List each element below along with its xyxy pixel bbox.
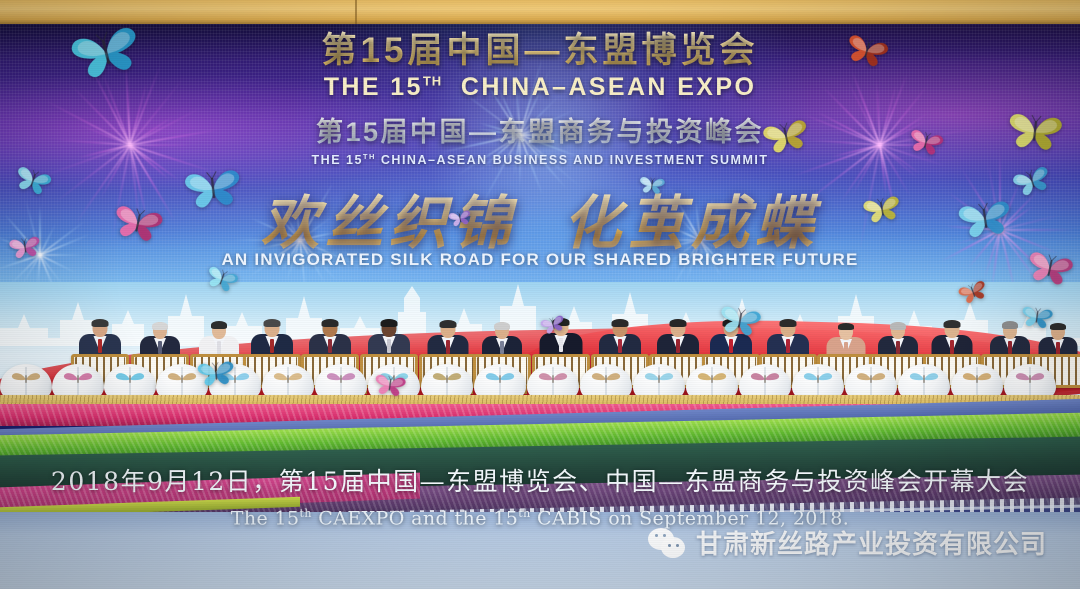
watermark-company-name: 甘肃新丝路产业投资有限公司 — [696, 524, 1047, 561]
cocoon-moth-decal — [591, 371, 621, 390]
cocoon-moth-decal — [538, 371, 568, 390]
event-photo: 第15届中国—东盟博览会 THE 15TH CHINA–ASEAN EXPO 第… — [0, 0, 1080, 589]
summit-title-english: THE 15TH CHINA–ASEAN BUSINESS AND INVEST… — [0, 152, 1080, 167]
cocoon-moth-decal — [803, 371, 833, 390]
dignitary-hair — [1002, 321, 1018, 329]
dignitary-hair — [780, 319, 797, 327]
slogan-english: AN INVIGORATED SILK ROAD FOR OUR SHARED … — [0, 250, 1080, 270]
cocoon-moth-decal — [962, 371, 992, 390]
dignitary-hair — [264, 319, 281, 327]
slogan-calligraphy: 欢丝织锦化茧成蝶 — [0, 176, 1080, 260]
dignitary-hair — [152, 322, 168, 330]
cocoon-moth-decal — [856, 371, 886, 390]
cocoon-moth-decal — [63, 371, 93, 390]
dignitary-hair — [1050, 323, 1066, 330]
expo-title-chinese: 第15届中国—东盟博览会 — [0, 30, 1080, 71]
ceiling-seam — [355, 0, 357, 26]
dignitary-hair — [612, 319, 629, 327]
caption-ordinal-1: th — [300, 507, 312, 520]
summit-title-english-ordinal: TH — [363, 152, 376, 161]
summit-title-english-pre: THE 15 — [312, 153, 363, 167]
expo-title-english-post: CHINA–ASEAN EXPO — [461, 73, 756, 101]
watermark: 甘肃新丝路产业投资有限公司 — [648, 524, 1047, 561]
summit-title-english-post: CHINA–ASEAN BUSINESS AND INVESTMENT SUMM… — [381, 153, 769, 167]
wechat-bubble-small — [661, 537, 685, 558]
dignitary-hair — [838, 323, 854, 330]
cocoon-moth-decal — [909, 371, 939, 390]
cocoon-moth-decal — [750, 371, 780, 390]
dignitary-hair — [494, 322, 510, 330]
dignitary-hair — [944, 320, 961, 328]
cocoon-moth-decal — [379, 371, 409, 390]
cocoon-moth-decal — [432, 371, 462, 390]
dignitary-hair — [553, 318, 570, 326]
cocoon-moth-decal — [167, 371, 197, 390]
cocoon-moth-decal — [326, 371, 356, 390]
cocoon-moth-decal — [697, 371, 727, 390]
cocoon-moth-decal — [644, 371, 674, 390]
slogan-calligraphy-right: 化茧成蝶 — [563, 189, 819, 257]
dignitary-hair — [440, 320, 457, 328]
dignitary-hair — [92, 319, 109, 327]
summit-title-chinese: 第15届中国—东盟商务与投资峰会 — [0, 110, 1080, 149]
dignitary-hair — [211, 321, 227, 329]
cocoon-moth-decal — [273, 371, 303, 390]
wechat-icon — [648, 526, 688, 560]
dignitary-hair — [890, 322, 906, 330]
wechat-dot-3 — [668, 544, 671, 547]
cocoon-moth-decal — [220, 371, 250, 390]
wechat-dot-1 — [655, 534, 658, 537]
caption-english-pre: The 15 — [231, 508, 300, 530]
slogan-calligraphy-left: 欢丝织锦 — [261, 189, 517, 257]
caption-ordinal-2: th — [518, 507, 530, 520]
cocoon-moth-decal — [115, 371, 145, 390]
dignitary-hair — [381, 319, 398, 327]
backdrop-title-block: 第15届中国—东盟博览会 THE 15TH CHINA–ASEAN EXPO 第… — [0, 30, 1080, 167]
wechat-dot-4 — [676, 544, 679, 547]
dignitary-hair — [322, 319, 339, 327]
expo-title-english-ordinal: TH — [423, 74, 442, 89]
venue-ceiling-strip — [0, 0, 1080, 26]
dignitary-hair — [723, 319, 740, 327]
caption-english-mid: CAEXPO and the 15 — [312, 508, 518, 530]
caption-chinese: 2018年9月12日，第15届中国—东盟博览会、中国—东盟商务与投资峰会开幕大会 — [0, 466, 1080, 497]
photo-caption: 2018年9月12日，第15届中国—东盟博览会、中国—东盟商务与投资峰会开幕大会… — [0, 466, 1080, 530]
expo-title-english-pre: THE 15 — [324, 73, 423, 101]
wechat-dot-2 — [663, 534, 666, 537]
cocoon-moth-decal — [11, 371, 41, 390]
cocoon-moth-decal — [1015, 371, 1045, 390]
cocoon-moth-decal — [485, 371, 515, 390]
expo-title-english: THE 15TH CHINA–ASEAN EXPO — [0, 73, 1080, 102]
dignitary-hair — [670, 319, 687, 327]
